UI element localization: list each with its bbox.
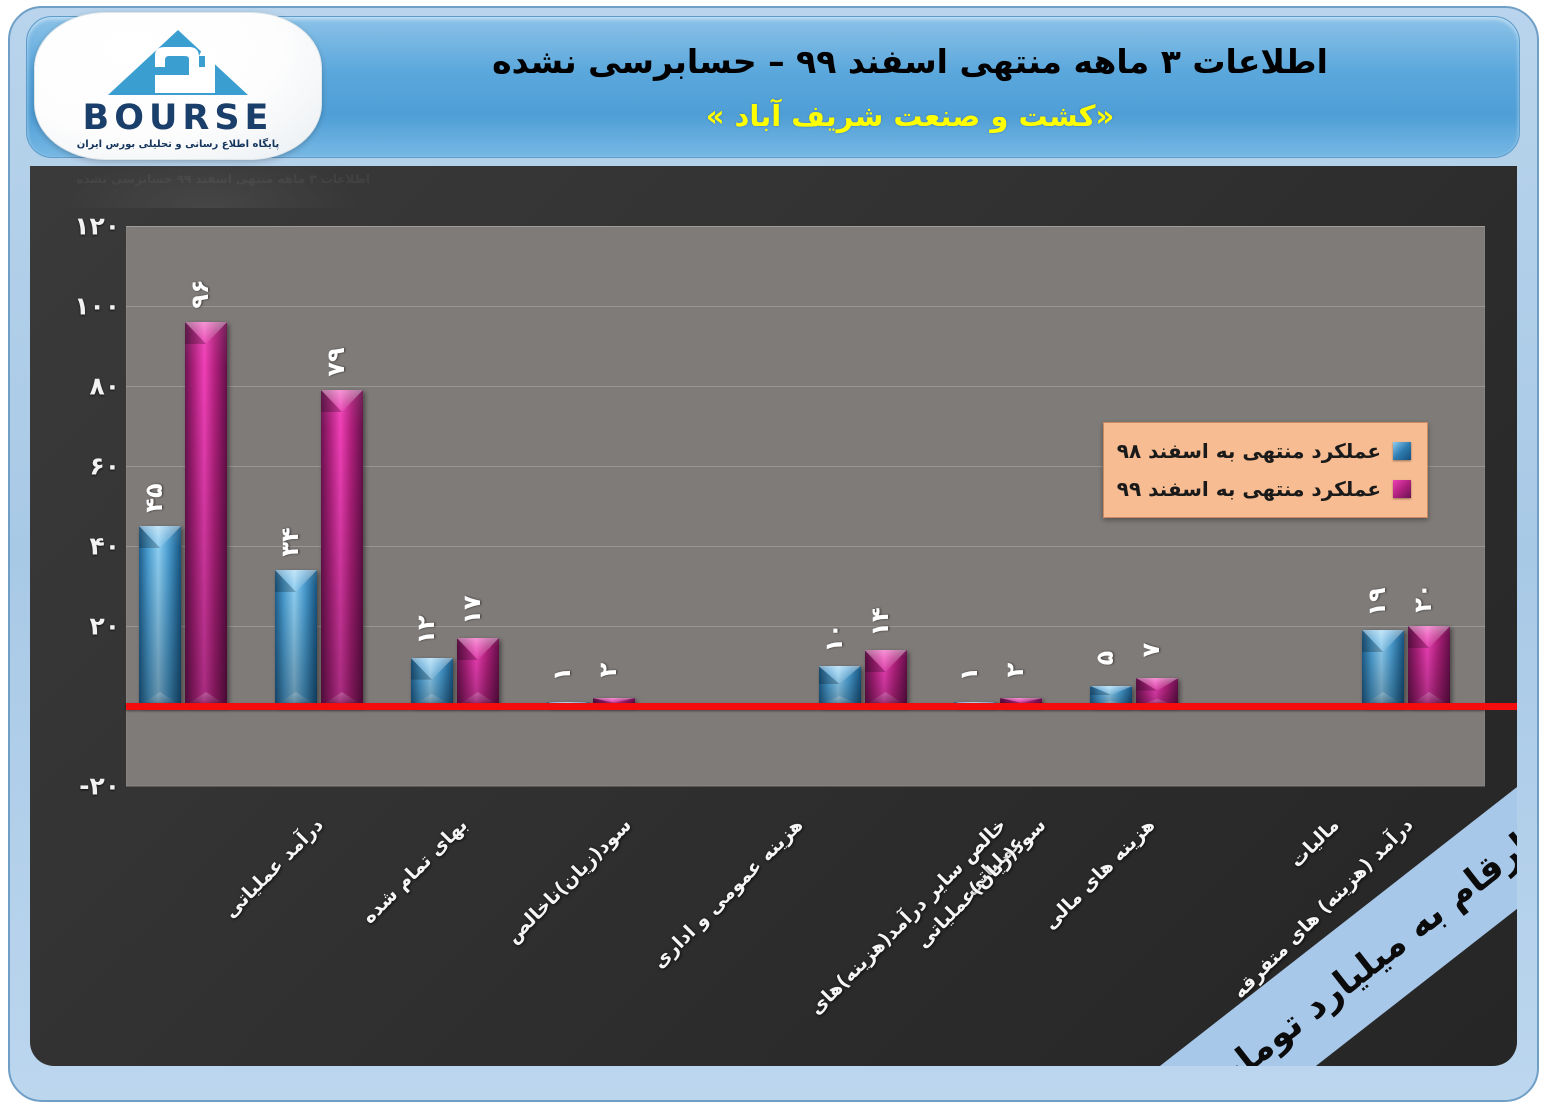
ribbon-label: ارقام به میلیارد تومان	[1204, 825, 1517, 1066]
legend-label: عملکرد منتهی به اسفند ۹۹	[1117, 477, 1381, 501]
x-axis-category-label: بهای تمام شده	[358, 814, 473, 929]
chart-legend: عملکرد منتهی به اسفند ۹۸ عملکرد منتهی به…	[1103, 422, 1428, 518]
bar-cap	[185, 322, 227, 344]
bar-value-label: ۹۶	[186, 276, 226, 312]
bar-magenta	[457, 638, 499, 706]
bar-value-label: ۱	[548, 656, 588, 692]
x-axis-category-label: هزینه عمومی و اداری	[648, 814, 808, 974]
corner-ribbon: ارقام به میلیارد تومان	[1157, 766, 1517, 1066]
panel-watermark-text: اطلاعات ۳ ماهه منتهی اسفند ۹۹ حسابرسی نش…	[70, 172, 370, 194]
bar-cap-shadow	[865, 650, 907, 672]
bar-value-label: ۲	[1001, 652, 1041, 688]
bar-value-label: ۷۹	[322, 344, 362, 380]
bar-blue	[139, 526, 181, 706]
legend-item: عملکرد منتهی به اسفند ۹۹	[1114, 477, 1411, 501]
bar-blue	[411, 658, 453, 706]
legend-swatch-icon	[1393, 480, 1411, 498]
bar-cap	[275, 570, 317, 592]
y-axis-tick-label: ۱۰۰	[42, 292, 120, 321]
bar-cap	[1362, 630, 1404, 652]
y-axis-tick-label: -۲۰	[42, 772, 120, 801]
logo-triangle-icon	[103, 25, 253, 103]
bar-magenta	[321, 390, 363, 706]
bar-blue	[1362, 630, 1404, 706]
x-axis-category-label: سود(زیان)ناخالص	[502, 814, 637, 949]
bar-cap-shadow	[185, 322, 227, 344]
bar-value-label: ۵	[1091, 640, 1131, 676]
x-axis-category-label: هزینه های مالی	[1040, 814, 1161, 935]
bar-magenta	[185, 322, 227, 706]
bar-cap-shadow	[1362, 630, 1404, 652]
page-title: اطلاعات ۳ ماهه منتهی اسفند ۹۹ – حسابرسی …	[492, 42, 1328, 81]
bar-value-label: ۱۰	[820, 620, 860, 656]
legend-swatch-icon	[1393, 442, 1411, 460]
header-title-group: اطلاعات ۳ ماهه منتهی اسفند ۹۹ – حسابرسی …	[340, 16, 1480, 158]
y-axis-tick-label: ۱۲۰	[42, 212, 120, 241]
bar-blue	[819, 666, 861, 706]
bar-cap-shadow	[411, 658, 453, 680]
bar-cap-shadow	[139, 526, 181, 548]
bar-cap-shadow	[275, 570, 317, 592]
company-name: «کشت و صنعت شریف آباد »	[706, 99, 1115, 133]
bar-value-label: ۱۹	[1363, 584, 1403, 620]
bar-cap	[321, 390, 363, 412]
bar-cap	[1408, 626, 1450, 648]
chart-panel: اطلاعات ۳ ماهه منتهی اسفند ۹۹ حسابرسی نش…	[30, 166, 1517, 1066]
bar-cap	[819, 666, 861, 684]
bar-value-label: ۱۴	[866, 604, 906, 640]
bourse24-logo: BOURSE پایگاه اطلاع رسانی و تحلیلی بورس …	[34, 12, 322, 160]
bar-cap-shadow	[1136, 678, 1178, 691]
bar-value-label: ۱۲	[412, 612, 452, 648]
zero-baseline	[126, 703, 1485, 710]
zero-baseline-extension	[1485, 703, 1517, 710]
bar-cap-shadow	[321, 390, 363, 412]
bar-value-label: ۱۷	[458, 592, 498, 628]
bar-cap-shadow	[1090, 686, 1132, 695]
screenshot-root: BOURSE پایگاه اطلاع رسانی و تحلیلی بورس …	[0, 0, 1547, 1110]
bar-cap-shadow	[1408, 626, 1450, 648]
logo-wordmark: BOURSE	[83, 101, 274, 136]
bar-cap	[1090, 686, 1132, 695]
bar-cap	[865, 650, 907, 672]
bar-magenta	[1408, 626, 1450, 706]
bar-value-label: ۱	[955, 656, 995, 692]
x-axis-category-label: درآمد عملیاتی	[220, 814, 330, 924]
legend-item: عملکرد منتهی به اسفند ۹۸	[1114, 439, 1411, 463]
x-axis-category-label: خالص سایر درآمد(هزینه)های عملیاتی	[804, 814, 1029, 1039]
bar-blue	[275, 570, 317, 706]
bar-value-label: ۷	[1137, 632, 1177, 668]
bar-cap	[139, 526, 181, 548]
legend-label: عملکرد منتهی به اسفند ۹۸	[1117, 439, 1381, 463]
bar-value-label: ۲	[594, 652, 634, 688]
y-axis-tick-label: ۶۰	[42, 452, 120, 481]
y-axis-tick-label: ۴۰	[42, 532, 120, 561]
ribbon-band: ارقام به میلیارد تومان	[1157, 766, 1517, 1066]
bar-cap	[457, 638, 499, 660]
bar-value-label: ۴۵	[140, 480, 180, 516]
logo-subtitle: پایگاه اطلاع رسانی و تحلیلی بورس ایران	[77, 139, 280, 150]
bar-cap	[411, 658, 453, 680]
y-axis: -۲۰۲۰۴۰۶۰۸۰۱۰۰۱۲۰	[30, 226, 120, 786]
bar-value-label: ۳۴	[276, 524, 316, 560]
bar-cap-shadow	[457, 638, 499, 660]
bar-cap-shadow	[819, 666, 861, 684]
bar-magenta	[1136, 678, 1178, 706]
y-axis-tick-label: ۲۰	[42, 612, 120, 641]
bar-value-label: ۲۰	[1409, 580, 1449, 616]
bar-cap	[1136, 678, 1178, 691]
y-axis-tick-label: ۸۰	[42, 372, 120, 401]
bar-magenta	[865, 650, 907, 706]
